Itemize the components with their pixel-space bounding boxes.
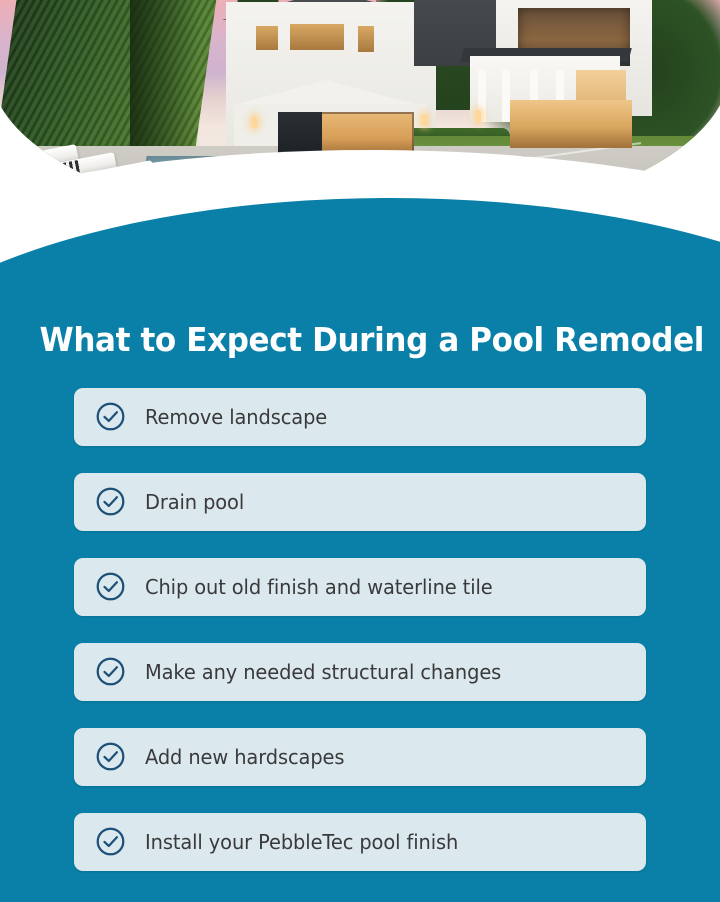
dark-glass-panel — [278, 112, 322, 156]
exterior-lamp-1 — [252, 116, 257, 128]
page-title: What to Expect During a Pool Remodel — [0, 296, 677, 360]
list-item[interactable]: Add new hardscapes — [74, 728, 646, 786]
list-item[interactable]: Drain pool — [74, 473, 646, 531]
lower-gable — [230, 80, 422, 106]
hero-section — [0, 0, 720, 300]
exterior-lamp-2 — [422, 114, 427, 126]
circle-check-icon — [95, 571, 126, 602]
list-item-label: Install your PebbleTec pool finish — [145, 832, 458, 852]
circle-check-icon — [95, 656, 126, 687]
list-item-label: Add new hardscapes — [145, 747, 344, 767]
upper-window-3 — [358, 26, 374, 52]
circle-check-icon — [95, 826, 126, 857]
list-item-label: Chip out old finish and waterline tile — [145, 577, 493, 597]
exterior-lamp-3 — [476, 110, 481, 122]
circle-check-icon — [95, 486, 126, 517]
list-item-label: Drain pool — [145, 492, 244, 512]
list-item[interactable]: Chip out old finish and waterline tile — [74, 558, 646, 616]
list-item-label: Remove landscape — [145, 407, 327, 427]
circle-check-icon — [95, 401, 126, 432]
list-item-label: Make any needed structural changes — [145, 662, 501, 682]
right-lit-interior — [510, 100, 632, 148]
checklist: Remove landscape Drain pool Chip out old… — [0, 360, 720, 871]
list-item[interactable]: Remove landscape — [74, 388, 646, 446]
pergola-column-2 — [502, 70, 510, 122]
list-item[interactable]: Install your PebbleTec pool finish — [74, 813, 646, 871]
list-item[interactable]: Make any needed structural changes — [74, 643, 646, 701]
circle-check-icon — [95, 741, 126, 772]
upper-window-2 — [290, 24, 344, 50]
infographic-page: What to Expect During a Pool Remodel Rem… — [0, 0, 720, 902]
upper-window-1 — [256, 26, 278, 50]
content-area: What to Expect During a Pool Remodel Rem… — [0, 296, 720, 898]
